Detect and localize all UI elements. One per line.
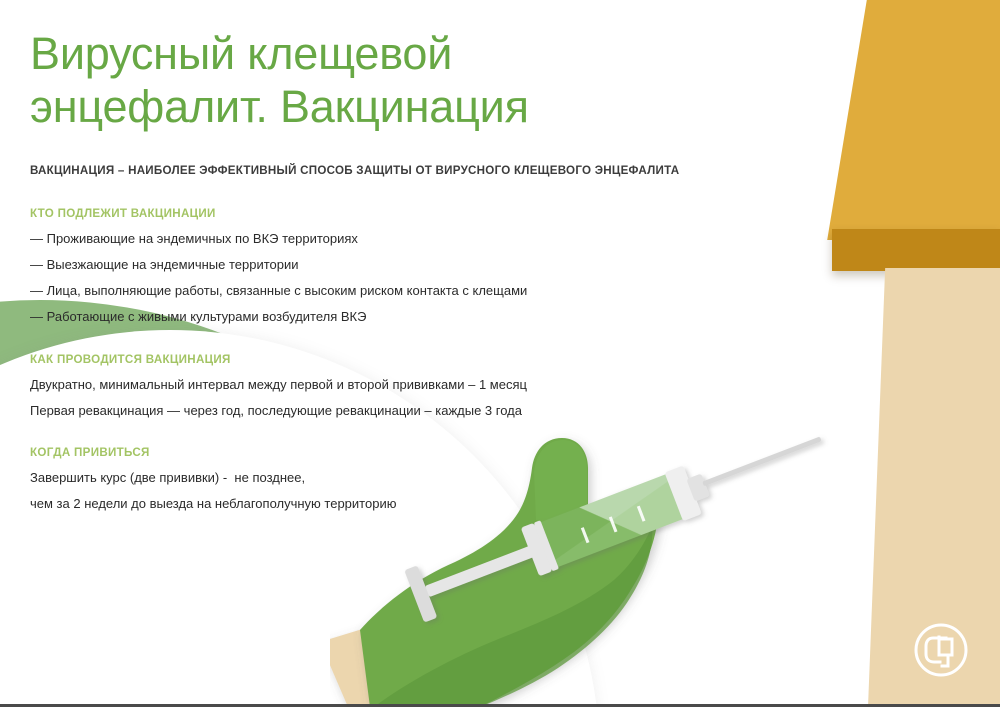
- section-who-should-vaccinate: КТО ПОДЛЕЖИТ ВАКЦИНАЦИИ — Проживающие на…: [30, 207, 830, 323]
- list-item: Двукратно, минимальный интервал между пе…: [30, 378, 830, 391]
- circular-monogram-logo: [912, 621, 970, 679]
- gold-accent-block: [820, 0, 1000, 240]
- section-how-vaccination-is-done: КАК ПРОВОДИТСЯ ВАКЦИНАЦИЯ Двукратно, мин…: [30, 353, 830, 417]
- list-item: Первая ревакцинация — через год, последу…: [30, 404, 830, 417]
- list-item: — Проживающие на эндемичных по ВКЭ терри…: [30, 232, 830, 245]
- list-item: чем за 2 недели до выезда на неблагополу…: [30, 497, 830, 510]
- infographic-poster: Вирусный клещевой энцефалит. Вакцинация …: [0, 0, 1000, 707]
- section-heading: КОГДА ПРИВИТЬСЯ: [30, 446, 830, 459]
- list-item: Завершить курс (две прививки) - не поздн…: [30, 471, 830, 484]
- list-item: — Лица, выполняющие работы, связанные с …: [30, 284, 830, 297]
- poster-content: Вирусный клещевой энцефалит. Вакцинация …: [30, 28, 830, 510]
- poster-subtitle: ВАКЦИНАЦИЯ – НАИБОЛЕЕ ЭФФЕКТИВНЫЙ СПОСОБ…: [30, 164, 830, 177]
- section-heading: КТО ПОДЛЕЖИТ ВАКЦИНАЦИИ: [30, 207, 830, 220]
- section-heading: КАК ПРОВОДИТСЯ ВАКЦИНАЦИЯ: [30, 353, 830, 366]
- list-item: — Выезжающие на эндемичные территории: [30, 258, 830, 271]
- page-title: Вирусный клещевой энцефалит. Вакцинация: [30, 28, 830, 133]
- ochre-accent-band: [832, 229, 1000, 271]
- section-when-to-vaccinate: КОГДА ПРИВИТЬСЯ Завершить курс (две прив…: [30, 446, 830, 510]
- list-item: — Работающие с живыми культурами возбуди…: [30, 310, 830, 323]
